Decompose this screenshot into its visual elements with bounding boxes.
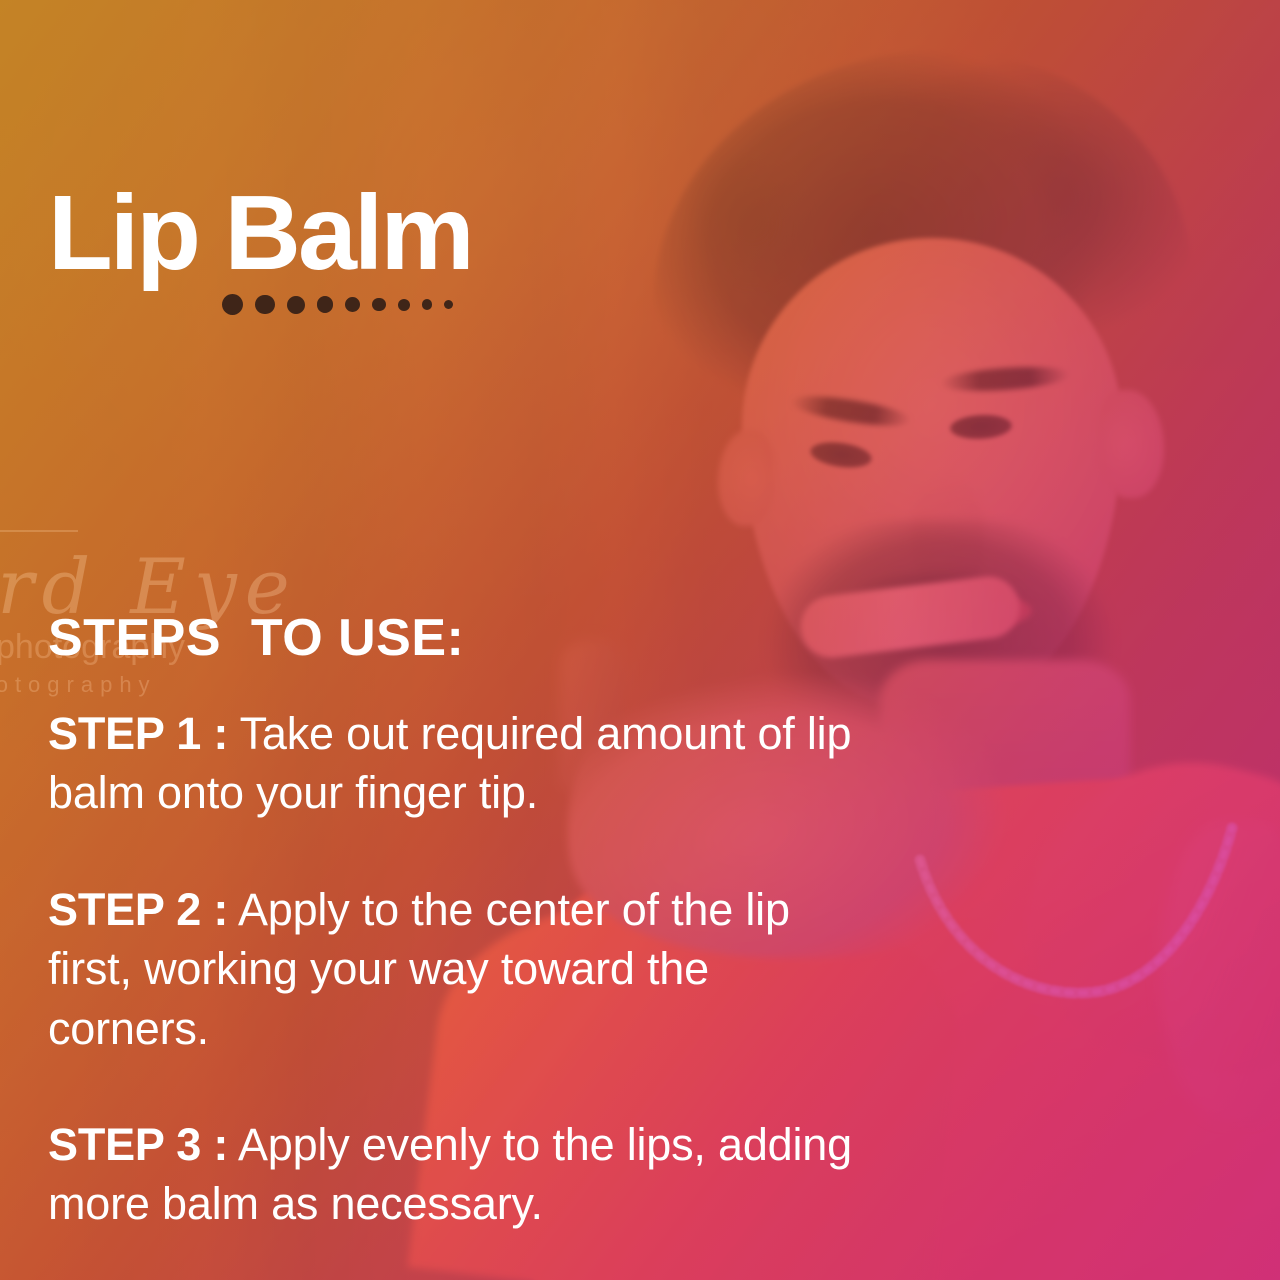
lip-balm-poster: hird Eye photography yephotography Lip B… [0,0,1280,1280]
decorative-dot [372,298,386,312]
product-title: Lip Balm [48,180,472,286]
decorative-dot [222,294,243,315]
decorative-dot [287,296,305,314]
step-item: STEP 3 : Apply evenly to the lips, addin… [48,1115,878,1234]
decorative-dot [317,296,334,313]
decorative-dot [398,299,410,311]
decorative-dot-row [222,294,453,315]
step-item: STEP 2 : Apply to the center of the lip … [48,880,878,1058]
steps-heading: STEPS TO USE: [48,608,464,668]
decorative-dot [422,299,433,310]
poster-content: Lip Balm STEPS TO USE: STEP 1 : Take out… [0,0,1280,1280]
decorative-dot [255,295,275,315]
step-label: STEP 1 : [48,708,228,759]
step-item: STEP 1 : Take out required amount of lip… [48,704,878,823]
step-label: STEP 2 : [48,884,228,935]
decorative-dot [345,297,360,312]
step-label: STEP 3 : [48,1119,228,1170]
decorative-dot [444,300,453,309]
